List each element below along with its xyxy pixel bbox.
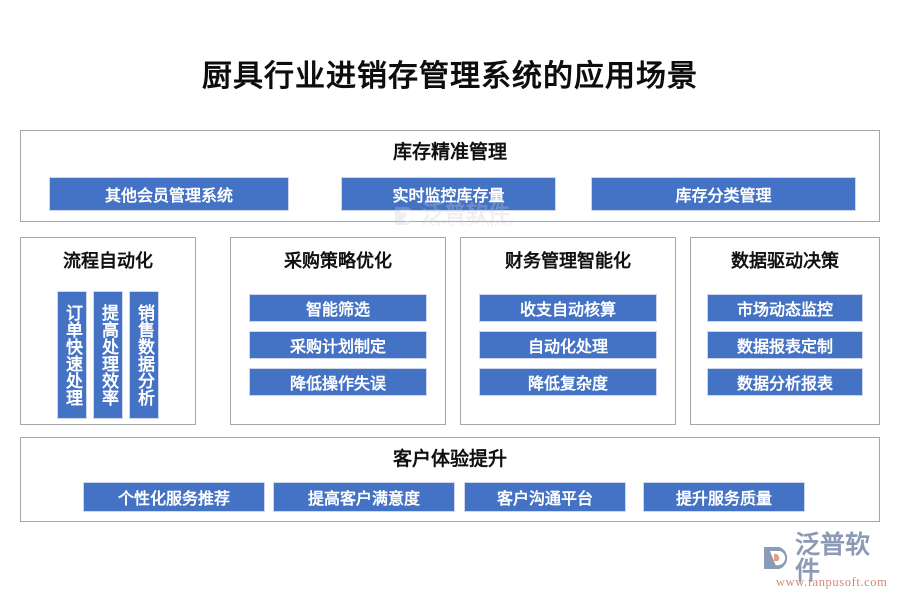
section-inventory: 库存精准管理 其他会员管理系统 实时监控库存量 库存分类管理 xyxy=(20,130,880,222)
chip-customer-0[interactable]: 个性化服务推荐 xyxy=(83,482,265,512)
chip-customer-3[interactable]: 提升服务质量 xyxy=(643,482,805,512)
section-finance: 财务管理智能化 收支自动核算 自动化处理 降低复杂度 xyxy=(460,237,676,425)
chip-datadriven-0[interactable]: 市场动态监控 xyxy=(707,294,863,322)
brand-url: www.fanpusoft.com xyxy=(776,575,892,590)
chip-customer-1[interactable]: 提高客户满意度 xyxy=(273,482,455,512)
chip-inventory-0[interactable]: 其他会员管理系统 xyxy=(49,177,289,211)
chip-datadriven-1[interactable]: 数据报表定制 xyxy=(707,331,863,359)
chip-purchase-0[interactable]: 智能筛选 xyxy=(249,294,427,322)
page-title: 厨具行业进销存管理系统的应用场景 xyxy=(0,58,900,96)
section-process-items: 订单快速处理 提高处理效率 销售数据分析 xyxy=(21,291,195,419)
section-finance-title: 财务管理智能化 xyxy=(461,249,675,273)
section-inventory-title: 库存精准管理 xyxy=(21,141,879,165)
section-customer: 客户体验提升 个性化服务推荐 提高客户满意度 客户沟通平台 提升服务质量 xyxy=(20,437,880,522)
chip-finance-2[interactable]: 降低复杂度 xyxy=(479,368,657,396)
section-datadriven-title: 数据驱动决策 xyxy=(691,249,879,273)
chip-datadriven-2[interactable]: 数据分析报表 xyxy=(707,368,863,396)
chip-customer-2[interactable]: 客户沟通平台 xyxy=(464,482,626,512)
chip-process-1[interactable]: 提高处理效率 xyxy=(93,291,123,419)
brand-logo-row: 泛普软件 xyxy=(762,542,892,574)
chip-inventory-2[interactable]: 库存分类管理 xyxy=(591,177,856,211)
section-inventory-items: 其他会员管理系统 实时监控库存量 库存分类管理 xyxy=(21,177,881,211)
section-datadriven-items: 市场动态监控 数据报表定制 数据分析报表 xyxy=(691,294,879,396)
section-purchase-title: 采购策略优化 xyxy=(231,249,445,273)
chip-process-0[interactable]: 订单快速处理 xyxy=(57,291,87,419)
fanpu-logo-icon xyxy=(762,544,792,572)
section-datadriven: 数据驱动决策 市场动态监控 数据报表定制 数据分析报表 xyxy=(690,237,880,425)
section-purchase: 采购策略优化 智能筛选 采购计划制定 降低操作失误 xyxy=(230,237,446,425)
chip-finance-1[interactable]: 自动化处理 xyxy=(479,331,657,359)
chip-process-2[interactable]: 销售数据分析 xyxy=(129,291,159,419)
section-process: 流程自动化 订单快速处理 提高处理效率 销售数据分析 xyxy=(20,237,196,425)
chip-purchase-2[interactable]: 降低操作失误 xyxy=(249,368,427,396)
section-process-title: 流程自动化 xyxy=(21,249,195,273)
section-customer-title: 客户体验提升 xyxy=(21,448,879,472)
section-purchase-items: 智能筛选 采购计划制定 降低操作失误 xyxy=(231,294,445,396)
brand-logo: 泛普软件 www.fanpusoft.com xyxy=(762,542,892,592)
section-finance-items: 收支自动核算 自动化处理 降低复杂度 xyxy=(461,294,675,396)
chip-inventory-1[interactable]: 实时监控库存量 xyxy=(341,177,556,211)
chip-finance-0[interactable]: 收支自动核算 xyxy=(479,294,657,322)
chip-purchase-1[interactable]: 采购计划制定 xyxy=(249,331,427,359)
section-customer-items: 个性化服务推荐 提高客户满意度 客户沟通平台 提升服务质量 xyxy=(21,482,881,512)
